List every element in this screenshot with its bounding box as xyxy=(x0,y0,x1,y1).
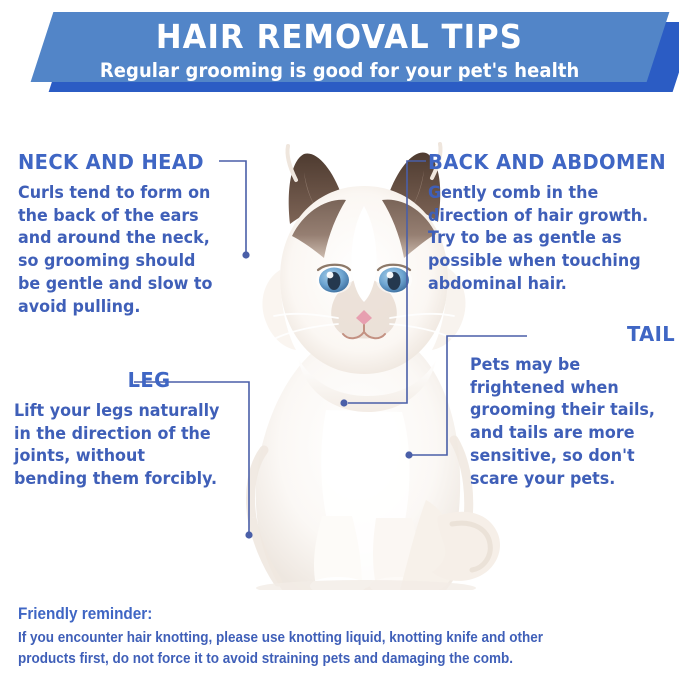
callout-body-back-and-abdomen: Gently comb in the direction of hair gro… xyxy=(428,182,662,296)
callout-leg: LEG Lift your legs naturally in the dire… xyxy=(14,368,229,491)
callout-back-and-abdomen: BACK AND ABDOMEN Gently comb in the dire… xyxy=(428,150,672,296)
callout-heading-leg: LEG xyxy=(19,368,223,392)
banner-main-layer xyxy=(31,12,670,82)
callout-heading-neck-and-head: NECK AND HEAD xyxy=(18,150,219,174)
callout-neck-and-head: NECK AND HEAD Curls tend to form on the … xyxy=(18,150,230,318)
callout-heading-tail: TAIL xyxy=(480,322,675,346)
friendly-reminder-body: If you encounter hair knotting, please u… xyxy=(18,627,599,669)
friendly-reminder: Friendly reminder: If you encounter hair… xyxy=(18,604,664,669)
callout-body-neck-and-head: Curls tend to form on the back of the ea… xyxy=(18,182,222,318)
header-banner: HAIR REMOVAL TIPS Regular grooming is go… xyxy=(0,0,679,108)
callout-body-leg: Lift your legs naturally in the directio… xyxy=(14,400,220,491)
callout-tail: TAIL Pets may be frightened when groomin… xyxy=(470,322,675,490)
friendly-reminder-title: Friendly reminder: xyxy=(18,604,599,624)
callout-heading-back-and-abdomen: BACK AND ABDOMEN xyxy=(428,150,660,174)
callout-body-tail: Pets may be frightened when grooming the… xyxy=(470,354,667,490)
